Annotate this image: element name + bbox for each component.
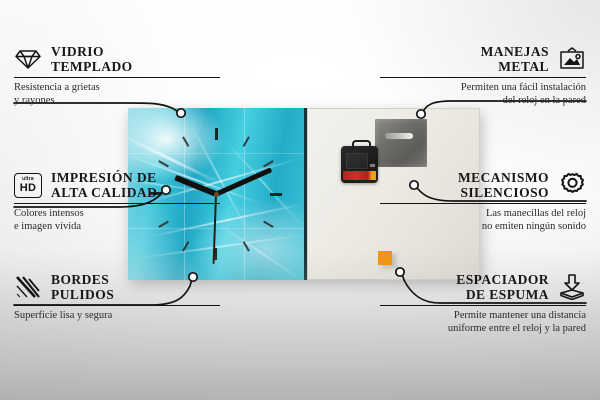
ultra-hd-large-text: HD (20, 183, 37, 194)
mechanism-port-detail (370, 164, 375, 167)
callout-rule (14, 203, 220, 204)
callout-title: ESPACIADOR DE ESPUMA (456, 272, 549, 302)
callout-description: Permiten una fácil instalación del reloj… (380, 82, 586, 107)
callout-description: Superficie lisa y segura (14, 310, 220, 323)
callout-description: Colores intensos e imagen vívida (14, 208, 220, 233)
mechanism-hanging-loop (352, 140, 371, 150)
callout-rule (14, 77, 220, 78)
callout-manejas-metal: MANEJAS METAL Permiten una fácil instala… (380, 44, 586, 107)
metal-hanger-plate (375, 119, 427, 167)
callout-title: MECANISMO SILENCIOSO (458, 170, 549, 200)
mechanism-housing-detail (346, 153, 368, 169)
callout-rule (380, 203, 586, 204)
arrow-press-pad-icon (558, 274, 586, 300)
hanger-slot (385, 133, 413, 139)
callout-description: Las manecillas del reloj no emiten ningú… (380, 208, 586, 233)
battery-terminal (371, 171, 376, 180)
infographic-canvas: VIDRIO TEMPLADO Resistencia a grietas y … (0, 0, 600, 400)
picture-frame-hook-icon (558, 46, 586, 72)
callout-rule (380, 77, 586, 78)
callout-bordes-pulidos: BORDES PULIDOS Superficie lisa y segura (14, 272, 220, 323)
callout-title: IMPRESIÓN DE ALTA CALIDAD (51, 170, 157, 200)
callout-mecanismo-silencioso: MECANISMO SILENCIOSO Las manecillas del … (380, 170, 586, 233)
callout-espaciador-de-espuma: ESPACIADOR DE ESPUMA Permite mantener un… (380, 272, 586, 335)
ultra-hd-badge-icon: ultra HD (14, 172, 42, 198)
diamond-icon (14, 46, 42, 72)
callout-vidrio-templado: VIDRIO TEMPLADO Resistencia a grietas y … (14, 44, 220, 107)
foam-spacer (378, 251, 392, 265)
clock-mechanism (341, 146, 378, 183)
callout-title: VIDRIO TEMPLADO (51, 44, 133, 74)
callout-description: Resistencia a grietas y rayones (14, 82, 220, 107)
callout-title: MANEJAS METAL (481, 44, 549, 74)
gear-icon (558, 172, 586, 198)
callout-description: Permite mantener una distancia uniforme … (380, 310, 586, 335)
diagonal-lines-icon (14, 274, 42, 300)
callout-impresion-alta-calidad: ultra HD IMPRESIÓN DE ALTA CALIDAD Color… (14, 170, 220, 233)
callout-title: BORDES PULIDOS (51, 272, 114, 302)
ultra-hd-small-text: ultra (22, 177, 34, 182)
callout-rule (14, 305, 220, 306)
callout-rule (380, 305, 586, 306)
